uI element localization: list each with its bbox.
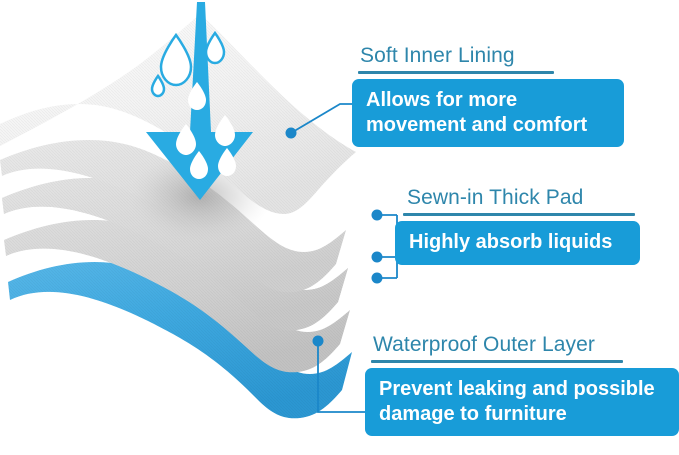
callout-box-soft-inner-lining: Allows for more movement and comfort bbox=[352, 79, 624, 147]
callout-box-line: Allows for more bbox=[366, 88, 611, 112]
callout-rule-waterproof-outer-layer bbox=[371, 360, 623, 363]
callout-heading-soft-inner-lining: Soft Inner Lining bbox=[352, 44, 624, 68]
callout-box-waterproof-outer-layer: Prevent leaking and possible damage to f… bbox=[365, 368, 679, 436]
callout-heading-waterproof-outer-layer: Waterproof Outer Layer bbox=[365, 333, 679, 357]
callout-sewn-in-thick-pad: Sewn-in Thick Pad Highly absorb liquids bbox=[395, 186, 640, 265]
infographic-canvas: Soft Inner Lining Allows for more moveme… bbox=[0, 0, 679, 455]
callout-box-line: damage to furniture bbox=[379, 402, 671, 426]
callout-heading-sewn-in-thick-pad: Sewn-in Thick Pad bbox=[395, 186, 640, 210]
callout-box-line: movement and comfort bbox=[366, 113, 611, 137]
callout-soft-inner-lining: Soft Inner Lining Allows for more moveme… bbox=[352, 44, 624, 147]
callout-box-sewn-in-thick-pad: Highly absorb liquids bbox=[395, 221, 640, 264]
callout-rule-sewn-in-thick-pad bbox=[403, 213, 635, 216]
callout-box-line: Highly absorb liquids bbox=[409, 230, 627, 254]
callout-box-line: Prevent leaking and possible bbox=[379, 377, 671, 401]
product-layers-illustration bbox=[0, 0, 400, 455]
callout-waterproof-outer-layer: Waterproof Outer Layer Prevent leaking a… bbox=[365, 333, 679, 436]
callout-rule-soft-inner-lining bbox=[358, 71, 554, 74]
